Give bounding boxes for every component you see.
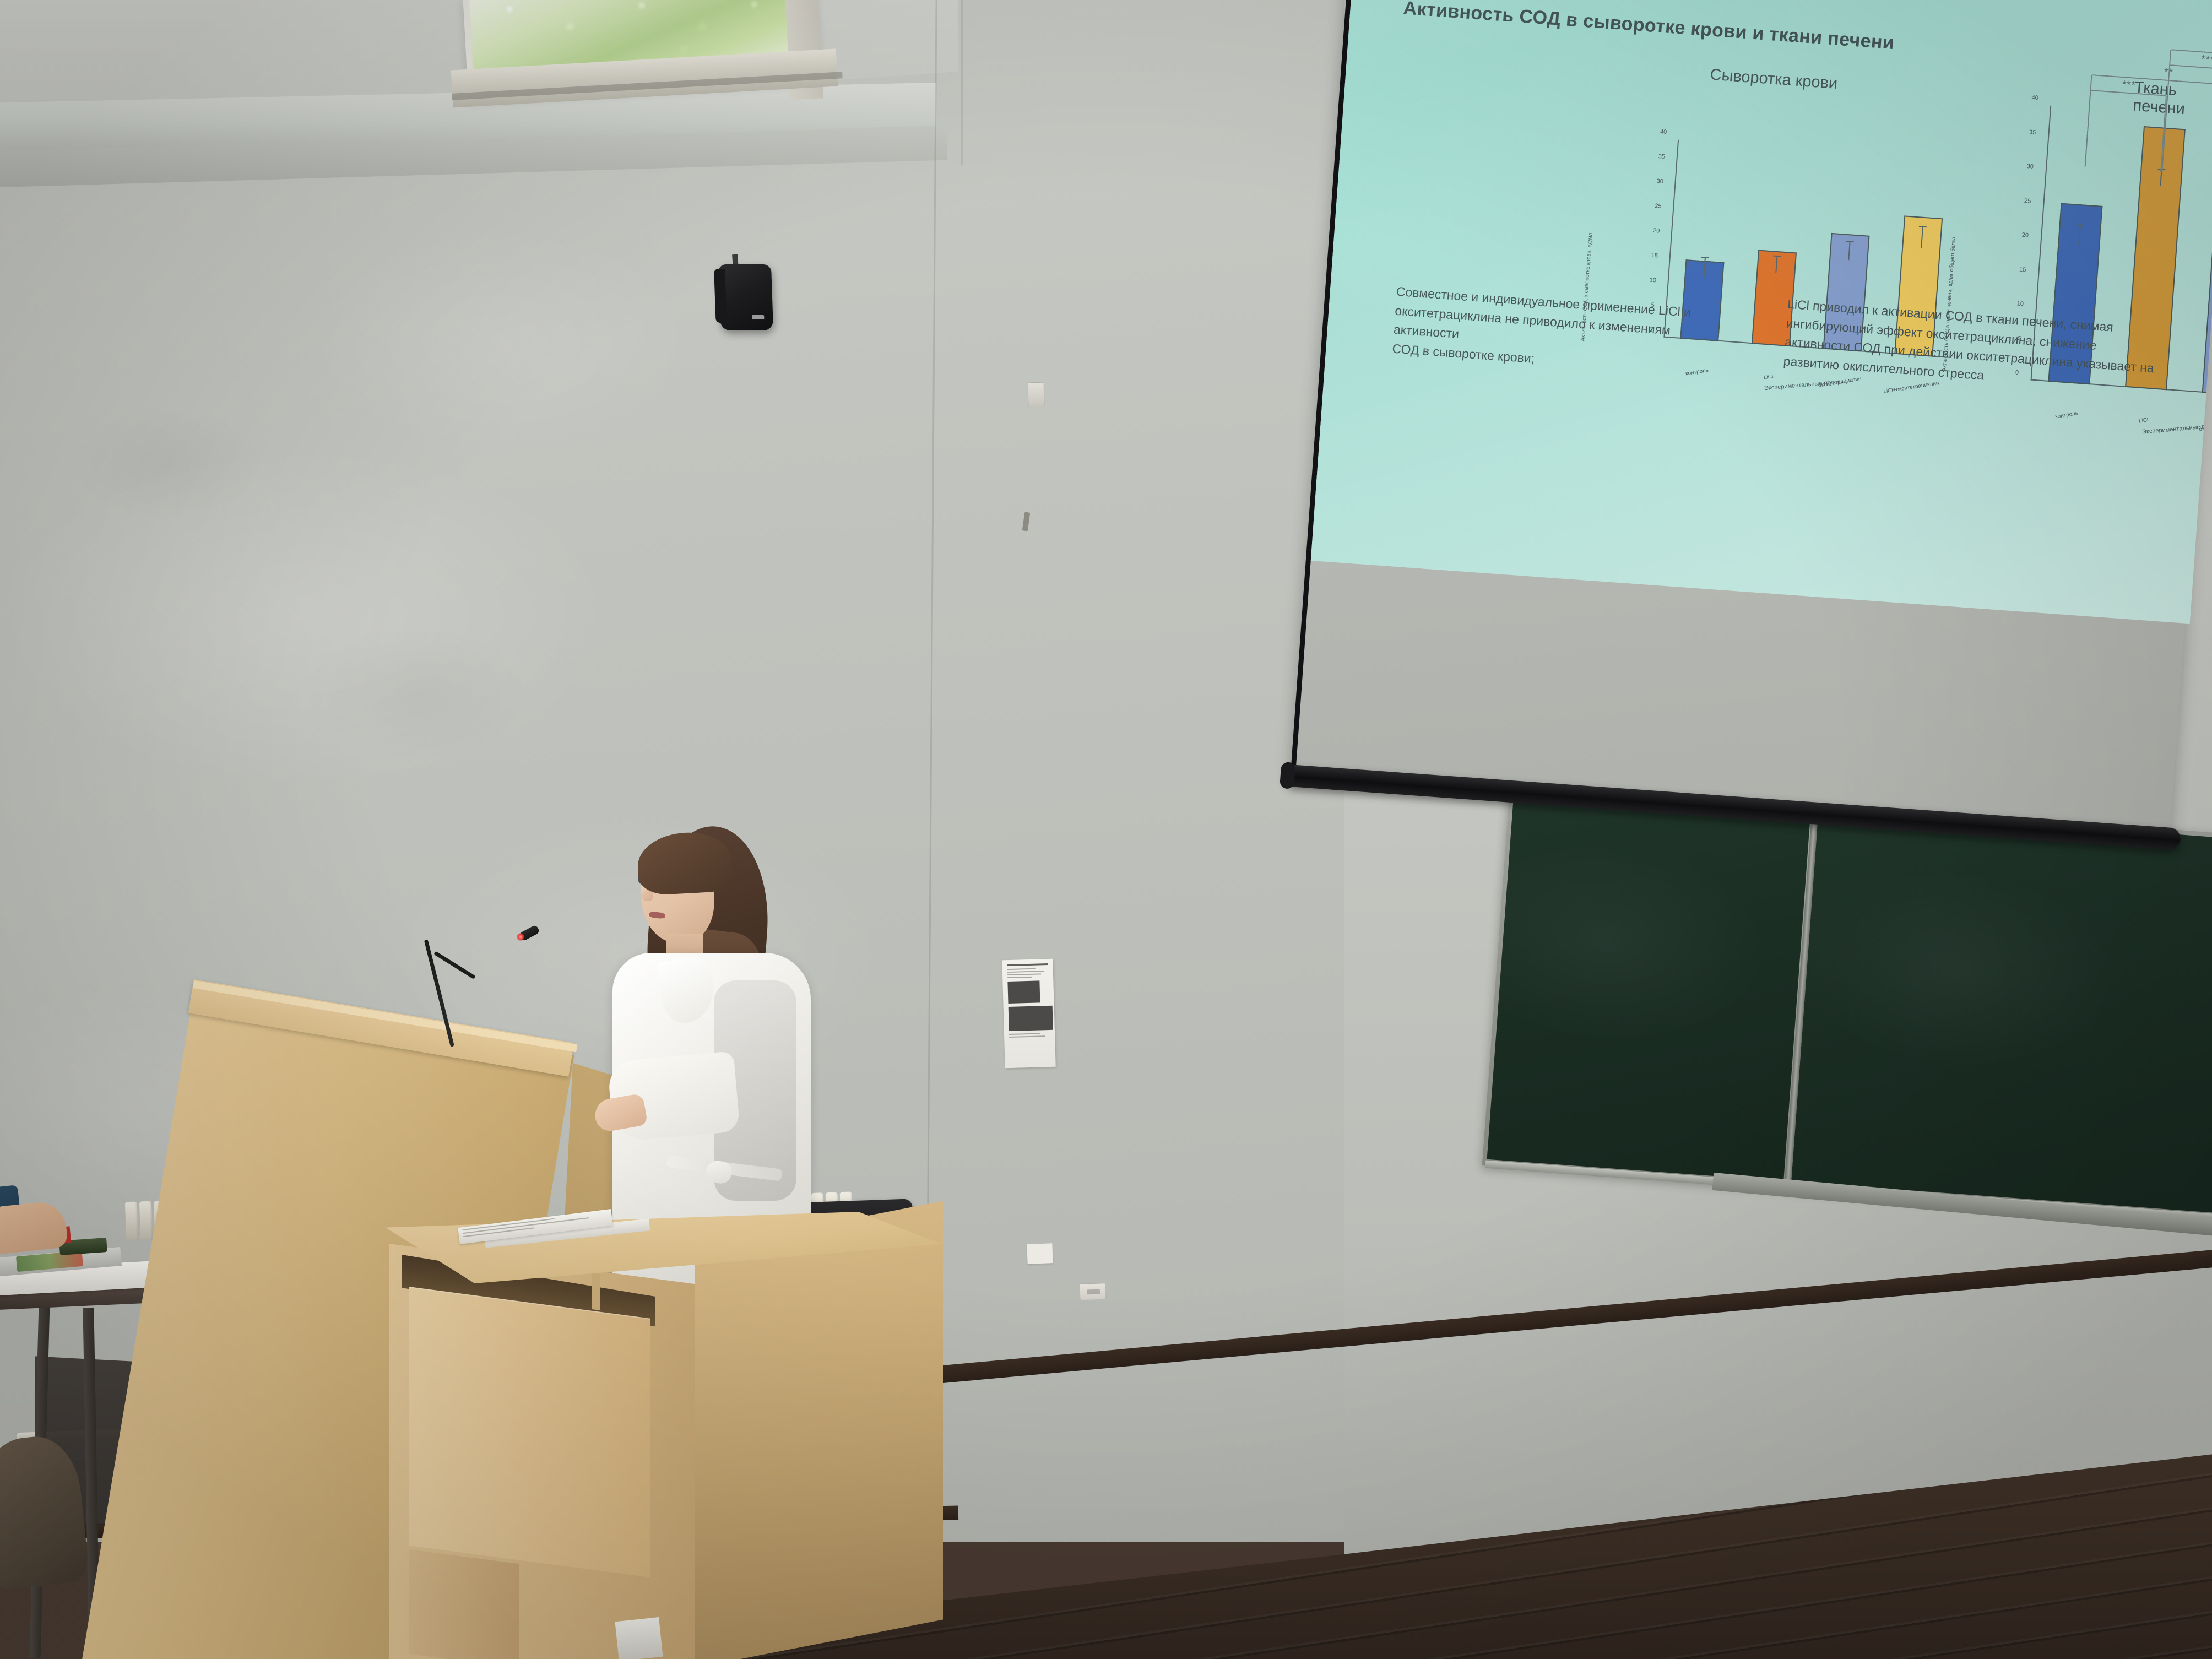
chart-y-tick-label: 15 <box>1651 252 1658 259</box>
projection-screen: Активность СОД в сыворотке крови и ткани… <box>1288 0 2212 866</box>
wall-socket[interactable] <box>1027 382 1044 407</box>
chart-y-tick-label: 40 <box>2031 94 2038 101</box>
chart-y-tick-label: 25 <box>2024 197 2031 204</box>
chart-y-tick-label: 35 <box>1658 153 1665 160</box>
chart-y-tick-label: 40 <box>1660 128 1667 135</box>
chalkboard-panel-right <box>1791 808 2212 1213</box>
chart-category-label: LiCl+окситетрациклин <box>1883 380 1939 395</box>
chart-y-tick-label: 25 <box>1655 203 1662 210</box>
chart-error-bar <box>2078 224 2081 245</box>
slide-panel-label-left: Сыворотка крови <box>1709 66 1838 93</box>
chart-y-tick-label: 10 <box>1649 277 1656 284</box>
desk-paper-low <box>615 1617 663 1659</box>
microphone-led-indicator <box>517 933 524 941</box>
chart-y-tick-label: 15 <box>2019 266 2026 273</box>
chart-x-axis-label: Экспериментальные группы <box>1764 378 1844 392</box>
chart-y-tick-label: 35 <box>2029 129 2036 136</box>
wall-paper-note <box>1027 1243 1053 1264</box>
wall-speaker-icon <box>718 264 773 330</box>
chart-error-bar <box>1775 256 1777 273</box>
significance-bracket: ** <box>2161 49 2212 183</box>
chart-category-label: LiCl <box>1763 373 1774 381</box>
chart-bar <box>2202 200 2212 396</box>
power-outlet[interactable] <box>1079 1283 1106 1300</box>
chart-category-label: контроль <box>2054 410 2078 420</box>
chart-x-axis-label: Экспериментальные группы <box>2142 422 2212 435</box>
slide-title: Активность СОД в сыворотке крови и ткани… <box>1403 0 2064 66</box>
chart-y-tick-label: 20 <box>2021 232 2029 239</box>
chart-y-tick-label: 10 <box>2016 300 2024 307</box>
chart-error-bar <box>1848 241 1851 260</box>
speaker-logo <box>752 315 764 319</box>
desk-kick-panel <box>409 1549 519 1659</box>
presentation-slide: Активность СОД в сыворотке крови и ткани… <box>1311 0 2212 624</box>
chalkboard-panel-left <box>1487 786 1811 1181</box>
lecture-hall-photo: Активность СОД в сыворотке крови и ткани… <box>0 0 2212 1659</box>
wall-notice <box>1002 959 1055 1068</box>
screen-bar-cap <box>1280 762 1295 789</box>
chart-error-bar <box>1703 257 1706 279</box>
desk-side-panel <box>695 1201 943 1659</box>
chart-category-label: LiCl <box>2138 417 2149 425</box>
chart-y-tick-label: 20 <box>1653 227 1660 235</box>
notice-photo-2 <box>1009 1006 1053 1031</box>
desk-modesty-panel <box>409 1287 650 1577</box>
chart-y-tick-label: 30 <box>1656 178 1663 185</box>
presenter-hair-front <box>636 831 733 896</box>
notice-photo-1 <box>1007 980 1040 1004</box>
chart-error-bar <box>1921 226 1923 248</box>
chart-y-tick-label: 30 <box>2026 163 2034 170</box>
screen-surface: Активность СОД в сыворотке крови и ткани… <box>1291 0 2212 832</box>
wall-seam-upper <box>961 0 963 165</box>
